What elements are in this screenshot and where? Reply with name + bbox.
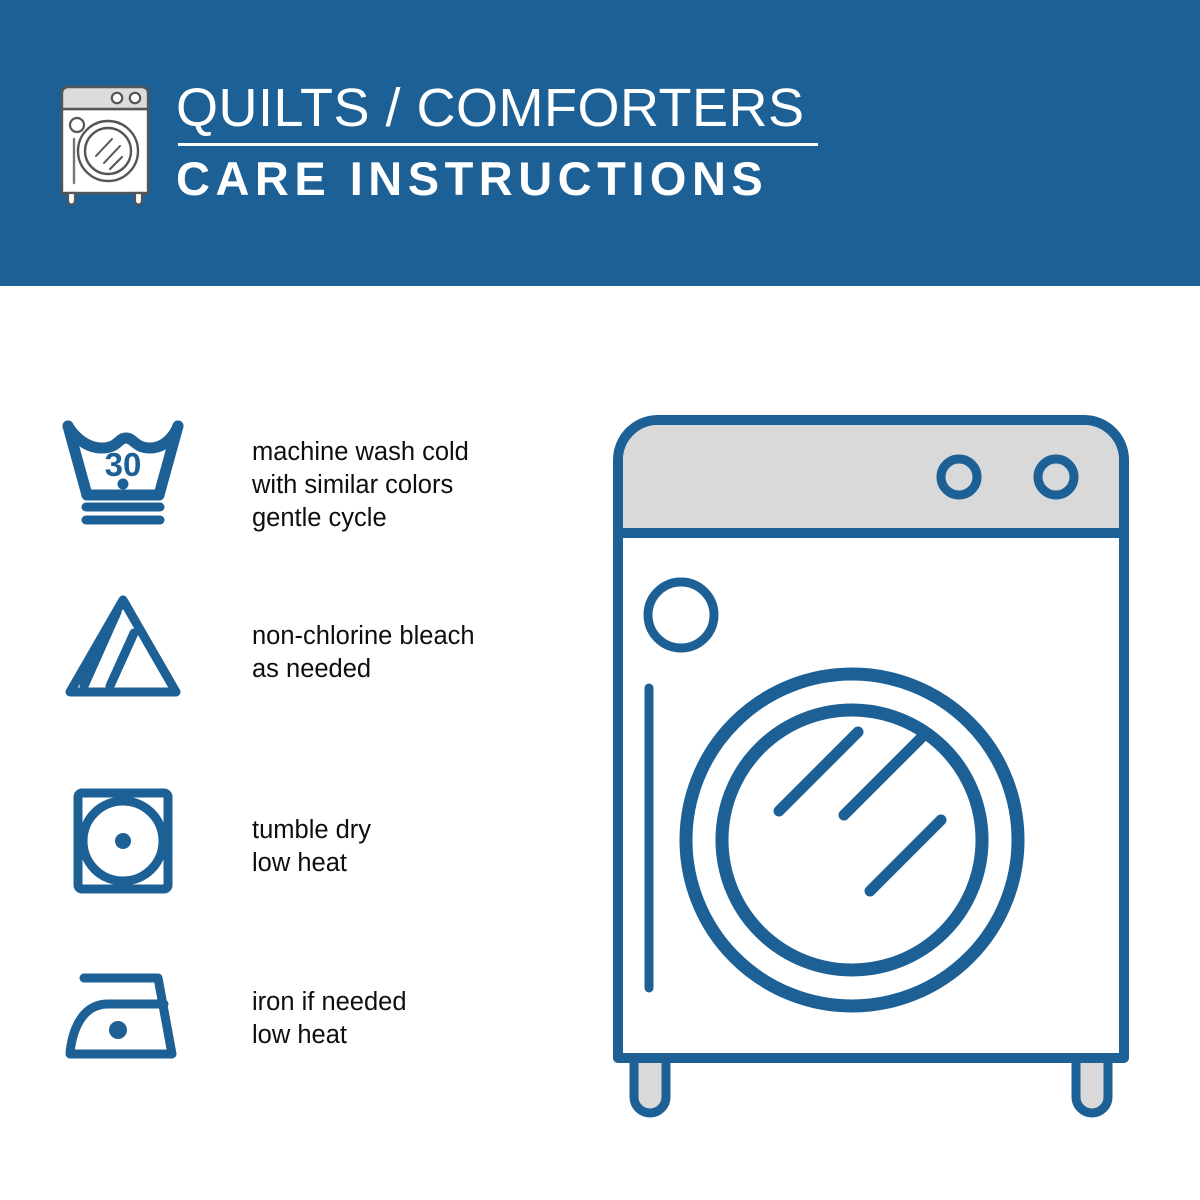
care-label-line: gentle cycle bbox=[252, 502, 469, 535]
care-item-wash: 30 machine wash cold with similar colors… bbox=[60, 418, 530, 535]
care-label-line: low heat bbox=[252, 847, 371, 880]
header-content: QUILTS / COMFORTERS CARE INSTRUCTIONS bbox=[52, 78, 818, 206]
iron-icon bbox=[60, 958, 186, 1068]
washing-machine-icon bbox=[52, 80, 158, 206]
page-header: QUILTS / COMFORTERS CARE INSTRUCTIONS bbox=[0, 0, 1200, 286]
bleach-triangle-icon bbox=[60, 592, 186, 702]
care-label-line: low heat bbox=[252, 1019, 407, 1052]
care-label-wash: machine wash cold with similar colors ge… bbox=[252, 436, 469, 535]
control-panel bbox=[623, 425, 1119, 533]
care-label-line: as needed bbox=[252, 653, 475, 686]
title-secondary: CARE INSTRUCTIONS bbox=[176, 152, 818, 206]
care-label-iron: iron if needed low heat bbox=[252, 986, 407, 1052]
care-label-bleach: non-chlorine bleach as needed bbox=[252, 620, 475, 686]
care-item-iron: iron if needed low heat bbox=[60, 958, 530, 1068]
wash-tub-icon: 30 bbox=[60, 418, 186, 528]
care-instructions-page: QUILTS / COMFORTERS CARE INSTRUCTIONS 30 bbox=[0, 0, 1200, 1200]
care-label-line: non-chlorine bleach bbox=[252, 620, 475, 653]
title-primary: QUILTS / COMFORTERS bbox=[176, 78, 818, 138]
title-divider bbox=[178, 143, 818, 146]
care-label-tumble-dry: tumble dry low heat bbox=[252, 814, 371, 880]
door-inner-ring bbox=[722, 710, 982, 970]
care-item-bleach: non-chlorine bleach as needed bbox=[60, 592, 530, 702]
care-label-line: iron if needed bbox=[252, 986, 407, 1019]
care-label-line: with similar colors bbox=[252, 469, 469, 502]
wash-temperature-label: 30 bbox=[105, 446, 142, 483]
tumble-dry-icon bbox=[60, 786, 186, 896]
washing-machine-illustration bbox=[598, 400, 1158, 1130]
page-title: QUILTS / COMFORTERS CARE INSTRUCTIONS bbox=[176, 78, 818, 206]
care-label-line: tumble dry bbox=[252, 814, 371, 847]
care-symbol-list: 30 machine wash cold with similar colors… bbox=[0, 286, 560, 1200]
care-label-line: machine wash cold bbox=[252, 436, 469, 469]
care-item-tumble-dry: tumble dry low heat bbox=[60, 786, 530, 896]
